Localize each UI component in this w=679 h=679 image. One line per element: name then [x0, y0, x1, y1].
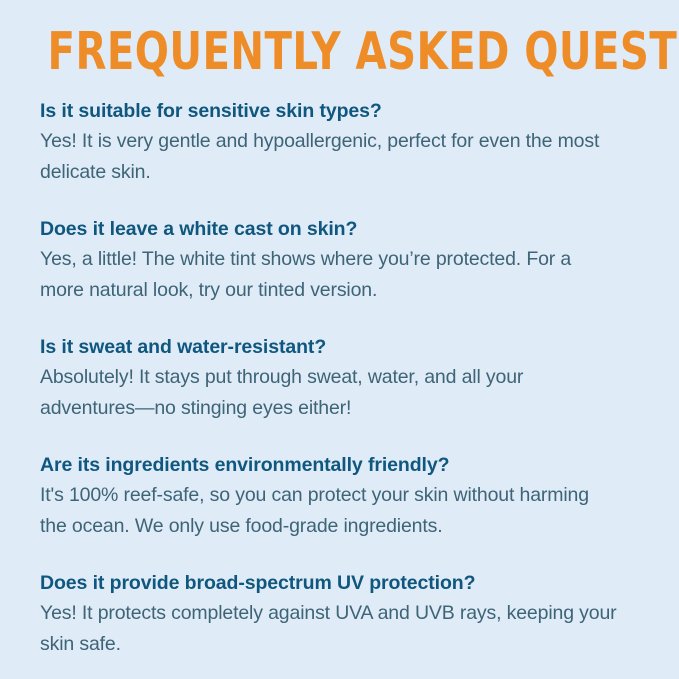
faq-item: Does it leave a white cast on skin? Yes,…	[40, 214, 618, 306]
faq-item: Are its ingredients environmentally frie…	[40, 450, 618, 542]
faq-question: Does it provide broad-spectrum UV protec…	[40, 568, 618, 598]
faq-card: FREQUENTLY ASKED QUESTIONS Is it suitabl…	[0, 0, 679, 679]
page-title: FREQUENTLY ASKED QUESTIONS	[48, 26, 632, 78]
faq-item: Is it sweat and water-resistant? Absolut…	[40, 332, 618, 424]
faq-item: Does it provide broad-spectrum UV protec…	[40, 568, 618, 660]
faq-question: Is it suitable for sensitive skin types?	[40, 96, 618, 126]
faq-question: Are its ingredients environmentally frie…	[40, 450, 618, 480]
faq-list: Is it suitable for sensitive skin types?…	[40, 96, 618, 660]
faq-answer: It's 100% reef-safe, so you can protect …	[40, 480, 618, 542]
faq-answer: Yes, a little! The white tint shows wher…	[40, 244, 618, 306]
faq-question: Does it leave a white cast on skin?	[40, 214, 618, 244]
faq-item: Is it suitable for sensitive skin types?…	[40, 96, 618, 188]
faq-answer: Yes! It protects completely against UVA …	[40, 598, 618, 660]
faq-answer: Yes! It is very gentle and hypoallergeni…	[40, 126, 618, 188]
faq-answer: Absolutely! It stays put through sweat, …	[40, 362, 618, 424]
faq-question: Is it sweat and water-resistant?	[40, 332, 618, 362]
